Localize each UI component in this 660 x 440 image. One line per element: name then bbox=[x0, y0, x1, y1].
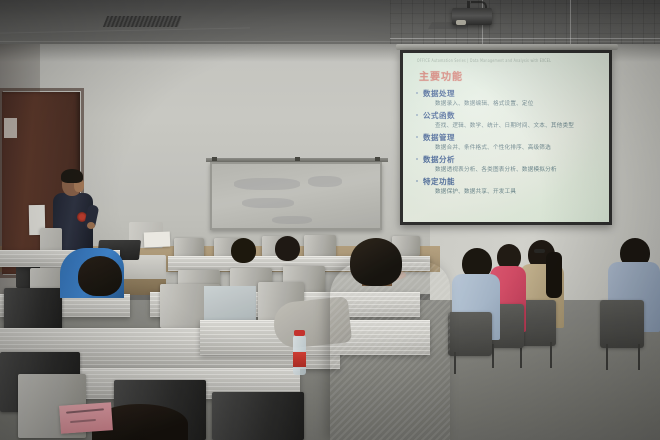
slide-section-detail: 数据合并、条件格式、个性化排序、高级筛选 bbox=[435, 143, 603, 151]
attendee-blue-jacket-head bbox=[78, 256, 122, 296]
presenter-hand bbox=[87, 222, 95, 229]
monitor bbox=[174, 238, 204, 258]
slide-title: 主要功能 bbox=[419, 68, 603, 83]
chair-leg bbox=[454, 352, 456, 374]
pink-note-card[interactable] bbox=[59, 402, 113, 434]
monitor-back bbox=[212, 392, 304, 440]
slide-section-heading: 数据处理 bbox=[423, 88, 603, 99]
slide-section: 数据管理 数据合并、条件格式、个性化排序、高级筛选 bbox=[423, 132, 603, 151]
slide-section: 数据分析 数据透视表分析、各类图表分析、数据模拟分析 bbox=[423, 154, 603, 173]
chair-leg bbox=[492, 344, 494, 368]
wall-notice-paper bbox=[4, 118, 17, 138]
slide-section: 数据处理 数据录入、数据编辑、格式设置、定位 bbox=[423, 88, 603, 107]
slide-section-detail: 数据保护、数据共享、开发工具 bbox=[435, 187, 603, 195]
water-bottle-cap bbox=[294, 330, 305, 336]
whiteboard-clip bbox=[375, 157, 380, 161]
slide-section-detail: 数据透视表分析、各类图表分析、数据模拟分析 bbox=[435, 165, 603, 173]
chair-leg bbox=[606, 344, 608, 370]
ceiling-vent bbox=[103, 16, 182, 27]
whiteboard bbox=[210, 162, 382, 230]
slide-section-detail: 数据录入、数据编辑、格式设置、定位 bbox=[435, 99, 603, 107]
water-bottle-label bbox=[293, 352, 306, 367]
glasses-icon bbox=[534, 249, 545, 253]
projector-lens-icon bbox=[456, 20, 466, 25]
chair-leg bbox=[638, 344, 640, 370]
slide-section: 特定功能 数据保护、数据共享、开发工具 bbox=[423, 176, 603, 195]
slide-section-heading: 公式函数 bbox=[423, 110, 603, 121]
slide-section-heading: 数据分析 bbox=[423, 154, 603, 165]
projection-screen: OFFICE Automation Series | Data Manageme… bbox=[400, 50, 612, 225]
whiteboard-clip bbox=[212, 157, 217, 161]
attendee-grey-suit bbox=[330, 262, 450, 440]
attendee-grey-suit-head bbox=[350, 238, 402, 286]
chair[interactable] bbox=[600, 300, 644, 348]
podium-paper bbox=[144, 232, 171, 248]
photo-scene: OFFICE Automation Series | Data Manageme… bbox=[0, 0, 660, 440]
slide-header-text: OFFICE Automation Series | Data Manageme… bbox=[417, 58, 603, 63]
chair-leg bbox=[550, 342, 552, 368]
chair[interactable] bbox=[448, 312, 492, 356]
slide-section-heading: 特定功能 bbox=[423, 176, 603, 187]
slide-section-detail: 查找、逻辑、数学、统计、日期时间、文本、其他类型 bbox=[435, 121, 603, 129]
attendee-hair-long bbox=[546, 252, 562, 298]
slide-section: 公式函数 查找、逻辑、数学、统计、日期时间、文本、其他类型 bbox=[423, 110, 603, 129]
slide-surface: OFFICE Automation Series | Data Manageme… bbox=[403, 53, 609, 222]
slide-section-heading: 数据管理 bbox=[423, 132, 603, 143]
whiteboard-clip bbox=[295, 157, 300, 161]
presenter-hair bbox=[61, 169, 83, 183]
monitor bbox=[304, 235, 336, 257]
